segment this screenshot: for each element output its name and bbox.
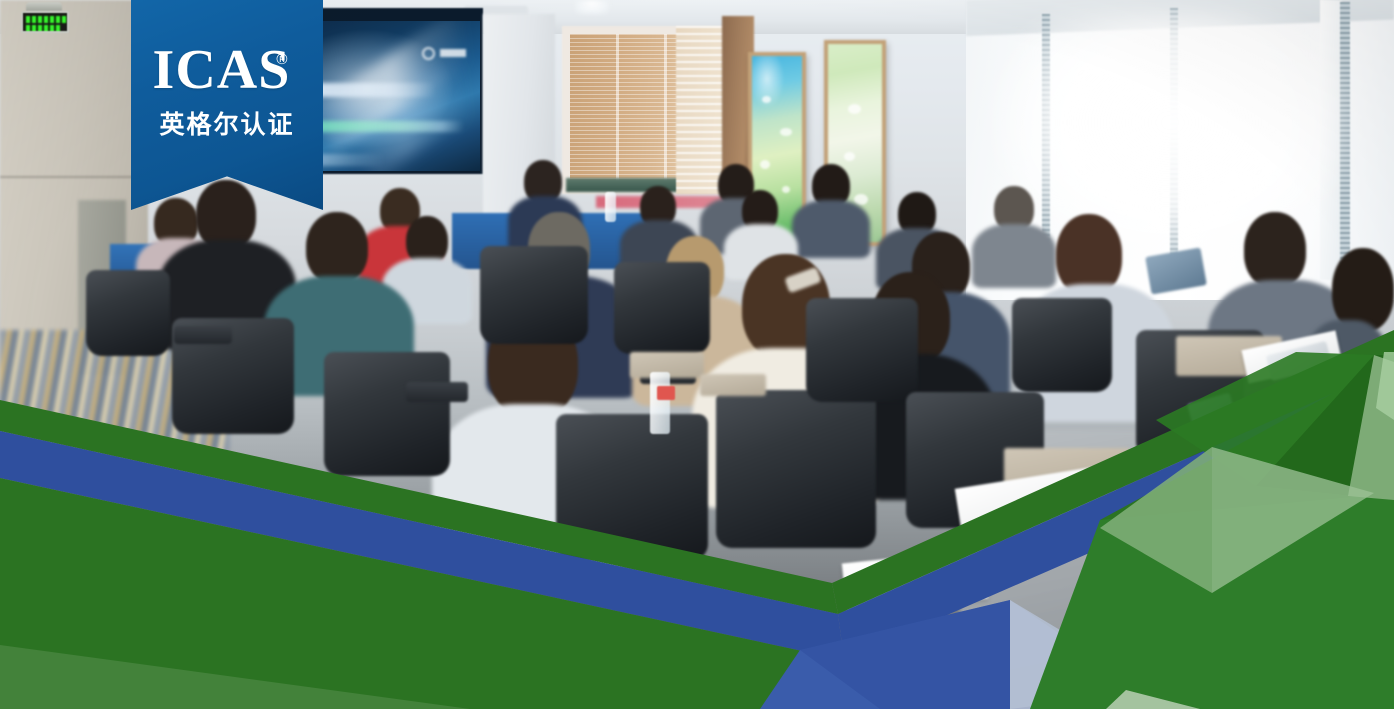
logo-content: ICAS® 英格尔认证	[131, 42, 323, 141]
logo-wordmark: ICAS	[153, 42, 291, 98]
logo-chinese-name: 英格尔认证	[131, 105, 323, 141]
banner-root: ICAS® 英格尔认证	[0, 0, 1394, 709]
registered-trademark-icon: ®	[276, 51, 287, 68]
